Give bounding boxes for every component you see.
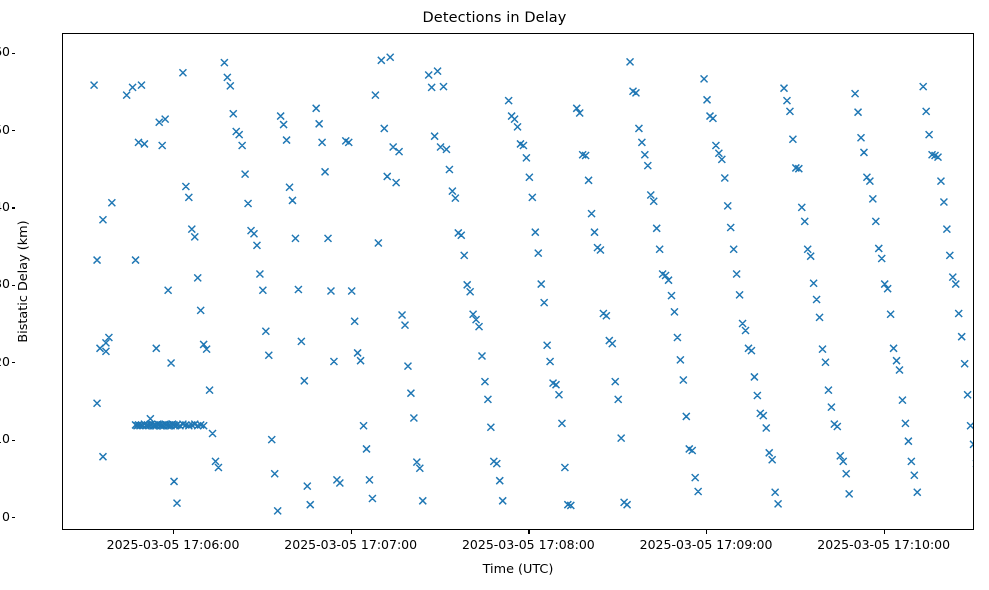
y-tick-mark bbox=[12, 517, 16, 518]
scatter-plot-area bbox=[63, 34, 973, 529]
x-tick-label: 2025-03-05 17:09:00 bbox=[640, 537, 773, 552]
y-tick-mark bbox=[12, 207, 16, 208]
x-tick-label: 2025-03-05 17:08:00 bbox=[462, 537, 595, 552]
x-tick-label: 2025-03-05 17:06:00 bbox=[107, 537, 240, 552]
y-tick-label: 30 bbox=[0, 276, 10, 291]
y-tick-label: 40 bbox=[0, 199, 10, 214]
y-tick-mark bbox=[12, 285, 16, 286]
y-tick-mark bbox=[12, 53, 16, 54]
plot-axes-frame bbox=[62, 33, 974, 530]
y-tick-label: 50 bbox=[0, 122, 10, 137]
y-tick-label: 0 bbox=[2, 509, 10, 524]
x-axis-label: Time (UTC) bbox=[62, 562, 974, 577]
chart-title: Detections in Delay bbox=[0, 10, 989, 26]
x-tick-mark bbox=[706, 530, 707, 534]
x-tick-mark bbox=[173, 530, 174, 534]
y-tick-label: 60 bbox=[0, 44, 10, 59]
scatter-markers bbox=[63, 34, 973, 529]
y-tick-label: 20 bbox=[0, 354, 10, 369]
y-tick-label: 10 bbox=[0, 431, 10, 446]
x-tick-label: 2025-03-05 17:10:00 bbox=[817, 537, 950, 552]
scatter-marker-path bbox=[91, 51, 973, 515]
y-tick-mark bbox=[12, 440, 16, 441]
x-tick-mark bbox=[351, 530, 352, 534]
y-tick-mark bbox=[12, 362, 16, 363]
x-tick-mark bbox=[528, 530, 529, 534]
x-tick-label: 2025-03-05 17:07:00 bbox=[284, 537, 417, 552]
matplotlib-figure: Detections in Delay Bistatic Delay (km) … bbox=[0, 0, 989, 590]
y-axis-label: Bistatic Delay (km) bbox=[14, 33, 34, 530]
x-tick-mark bbox=[884, 530, 885, 534]
y-tick-mark bbox=[12, 130, 16, 131]
